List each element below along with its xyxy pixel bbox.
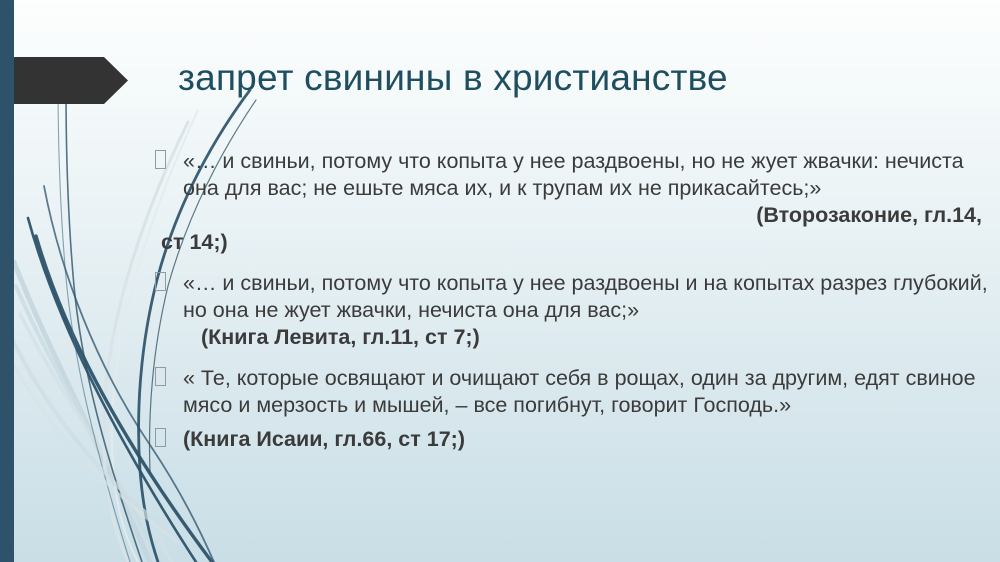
list-item: «… и свиньи, потому что копыта у нее раз… [150, 148, 988, 256]
page-title: запрет свинины в христианстве [178, 56, 978, 100]
bullet-box-icon [155, 367, 166, 386]
scripture-citation: (Второзаконие, гл.14, [183, 202, 988, 229]
presentation-slide: запрет свинины в христианстве «… и свинь… [0, 0, 1000, 562]
list-item: « Те, которые освящают и очищают себя в … [150, 365, 988, 419]
title-arrow-banner [0, 57, 128, 104]
bullet-box-icon [155, 272, 166, 291]
scripture-citation: (Книга Исаии, гл.66, ст 17;) [183, 426, 988, 453]
scripture-citation: (Книга Левита, гл.11, ст 7;) [201, 324, 988, 351]
scripture-quote: «… и свиньи, потому что копыта у нее раз… [183, 148, 988, 202]
scripture-quote: «… и свиньи, потому что копыта у нее раз… [183, 270, 988, 324]
slide-body: «… и свиньи, потому что копыта у нее раз… [150, 148, 988, 453]
bullet-box-icon [155, 428, 166, 447]
bullet-box-icon [155, 150, 166, 169]
list-item: «… и свиньи, потому что копыта у нее раз… [150, 270, 988, 351]
scripture-quote: « Те, которые освящают и очищают себя в … [183, 365, 988, 419]
left-accent-bar [0, 0, 14, 562]
scripture-citation-continued: ст 14;) [161, 229, 988, 256]
list-item: (Книга Исаии, гл.66, ст 17;) [150, 426, 988, 453]
